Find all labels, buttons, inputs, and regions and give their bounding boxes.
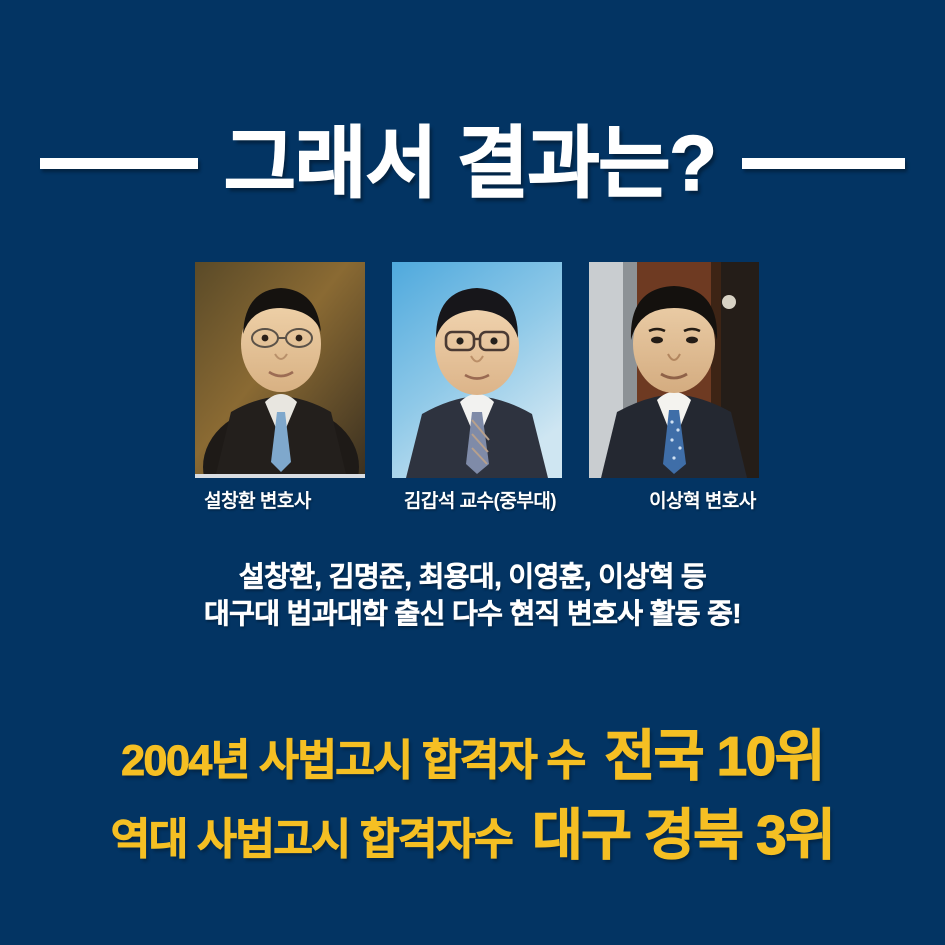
- stat-line-1: 2004년 사법고시 합격자 수 전국 10위: [0, 726, 945, 788]
- portrait-photo-1: [195, 262, 365, 478]
- poster-card: 그래서 결과는?: [0, 0, 945, 945]
- stat-2-lead: 역대 사법고시 합격자수: [111, 816, 513, 864]
- photo-caption-3: 이상혁 변호사: [595, 486, 810, 513]
- stat-2-highlight: 대구 경북 3위: [532, 804, 834, 866]
- portrait-illustration-2: [392, 262, 562, 478]
- portrait-illustration-3: [589, 262, 759, 478]
- stat-line-2: 역대 사법고시 합격자수 대구 경북 3위: [0, 805, 945, 867]
- photo-gallery: [195, 262, 759, 478]
- body-line-1: 설창환, 김명준, 최용대, 이영훈, 이상혁 등: [0, 558, 945, 595]
- stat-1-lead: 2004년 사법고시 합격자 수: [121, 737, 585, 785]
- title-band: 그래서 결과는?: [0, 104, 945, 222]
- stat-1-highlight: 전국 10위: [605, 725, 824, 787]
- stats-block: 2004년 사법고시 합격자 수 전국 10위 역대 사법고시 합격자수 대구 …: [0, 726, 945, 866]
- body-line-2: 대구대 법과대학 출신 다수 현직 변호사 활동 중!: [0, 595, 945, 632]
- page-title: 그래서 결과는?: [224, 124, 716, 202]
- title-dash-right-icon: [742, 158, 905, 169]
- portrait-photo-3: [589, 262, 759, 478]
- photo-caption-1: 설창환 변호사: [150, 486, 365, 513]
- title-dash-left-icon: [40, 158, 198, 169]
- portrait-photo-2: [392, 262, 562, 478]
- body-text-block: 설창환, 김명준, 최용대, 이영훈, 이상혁 등 대구대 법과대학 출신 다수…: [0, 558, 945, 632]
- photo-captions: 설창환 변호사 김갑석 교수(중부대) 이상혁 변호사: [150, 485, 810, 513]
- photo-caption-2: 김갑석 교수(중부대): [365, 486, 595, 513]
- portrait-illustration-1: [195, 262, 365, 478]
